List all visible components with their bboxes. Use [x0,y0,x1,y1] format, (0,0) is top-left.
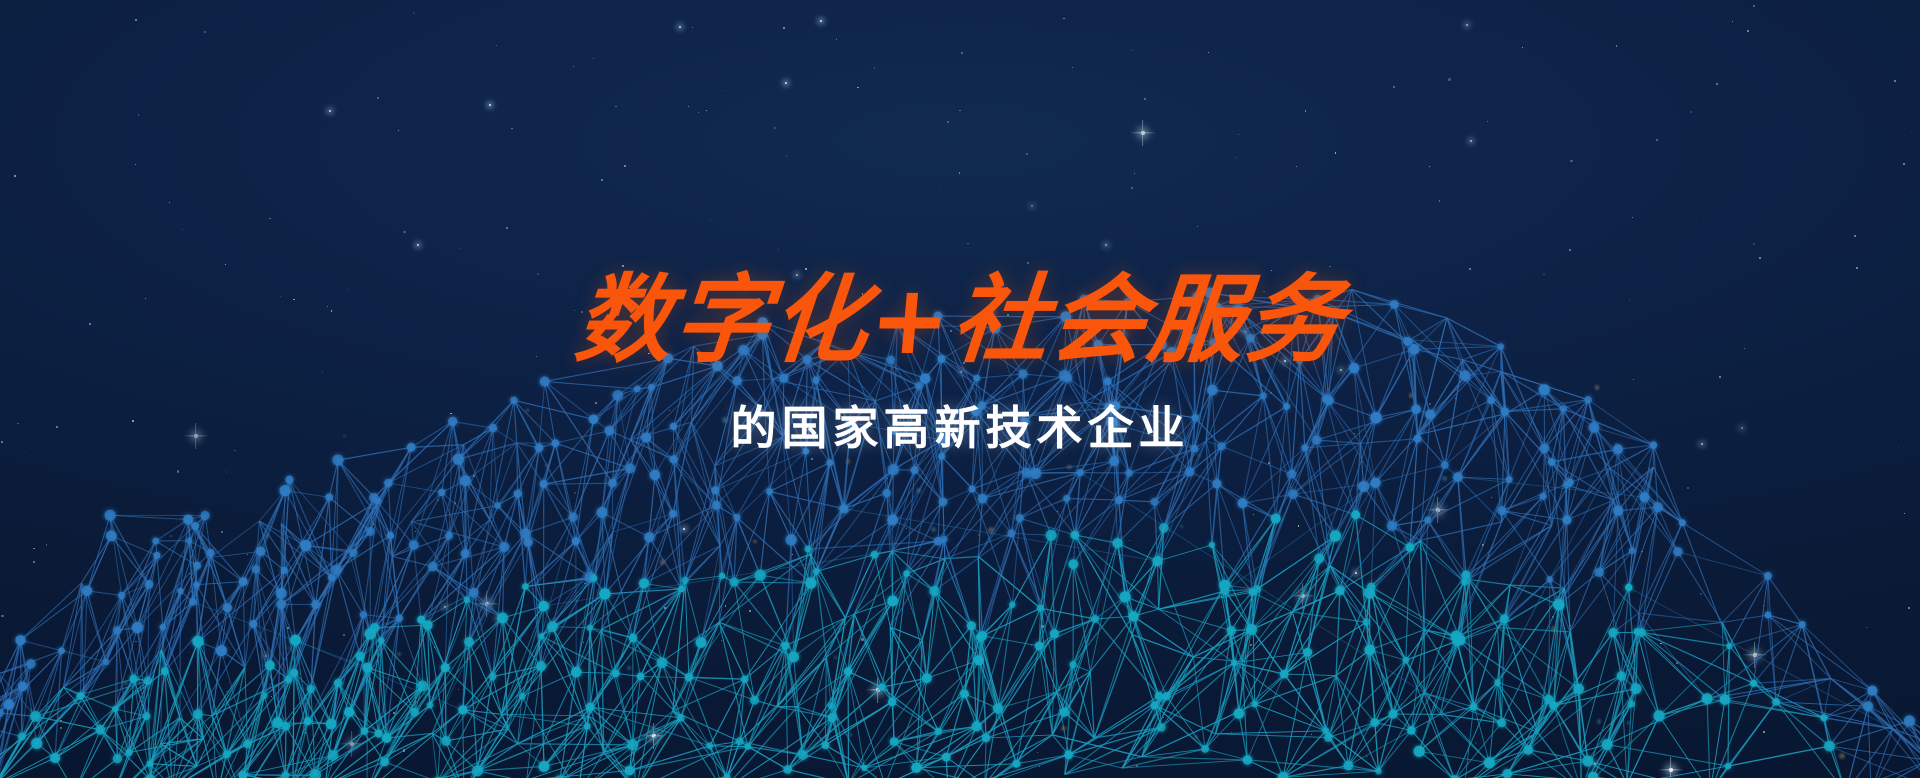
mesh-node [365,628,376,639]
mesh-node [644,532,654,542]
star-particle [1547,666,1549,668]
star-particle [21,685,23,687]
star-particle [692,27,693,28]
mesh-node [911,763,921,773]
mesh-node [1070,661,1077,668]
star-particle [1753,5,1755,7]
mesh-node [976,633,984,641]
star-particle [1134,173,1135,174]
dust-particle [1541,686,1544,689]
mesh-node [828,703,835,710]
star-particle [1759,257,1761,259]
star-particle [33,561,35,563]
glow-star-particle [489,104,491,106]
mesh-node [18,682,28,692]
mesh-node [1562,516,1571,525]
mesh-node [890,737,899,746]
star-particle [506,227,507,228]
mesh-node [520,528,530,538]
mesh-node [1548,458,1556,466]
star-particle [415,531,416,532]
star-particle [271,696,272,697]
mesh-node [223,750,231,758]
star-particle [573,66,574,67]
mesh-node [375,729,383,737]
mesh-node [839,505,846,512]
mesh-node [871,551,879,559]
mesh-node [177,588,183,594]
mesh-node [193,562,201,570]
dust-particle [1551,626,1556,631]
mesh-node [1287,470,1296,479]
mesh-node [1016,514,1024,522]
sparkle-star [339,731,365,757]
mesh-node [1120,591,1131,602]
star-particle [1482,544,1484,546]
mesh-node [1125,469,1133,477]
star-particle [1305,110,1307,112]
mesh-node [1617,671,1626,680]
mesh-node [1625,584,1632,591]
mesh-node [1720,694,1731,705]
star-particle [857,87,858,88]
dust-particle [660,559,666,565]
mesh-node [685,673,693,681]
mesh-node [1451,631,1462,642]
glow-star-particle [329,110,331,112]
dust-particle [931,527,937,533]
mesh-node [132,622,143,633]
mesh-node [441,736,451,746]
mesh-node [1009,602,1015,608]
mesh-node [152,538,159,545]
star-particle [455,502,457,504]
star-particle [313,742,314,743]
star-particle [593,58,594,59]
star-particle [398,130,399,131]
star-particle [1197,226,1198,227]
star-particle [1238,134,1239,135]
glow-star-particle [497,618,499,620]
star-particle [226,471,228,473]
mesh-node [903,570,910,577]
mesh-node [410,708,419,717]
mesh-node [18,733,26,741]
star-particle [46,544,47,545]
mesh-node [58,647,65,654]
mesh-node [417,616,425,624]
mesh-node [922,673,932,683]
star-particle [1475,742,1477,744]
mesh-node [378,637,385,644]
mesh-node [1064,750,1073,759]
mesh-node [755,570,766,581]
star-particle [1041,625,1043,627]
star-particle [473,475,475,477]
star-particle [1131,187,1133,189]
star-particle [1063,18,1065,20]
mesh-node [1060,708,1069,717]
star-particle [1904,513,1905,514]
dust-particle [1180,525,1183,528]
mesh-node [974,655,984,665]
mesh-node [599,588,610,599]
star-particle [169,202,170,203]
mesh-node [1904,715,1915,726]
star-particle [1026,153,1028,155]
star-particle [1487,121,1488,122]
banner-headline: 数字化+社会服务 [0,272,1920,370]
mesh-node [380,758,389,767]
mesh-node [261,693,267,699]
mesh-node [497,613,508,624]
star-particle [1268,462,1270,464]
mesh-node [1629,547,1636,554]
mesh-node [1484,757,1495,768]
mesh-node [696,637,707,648]
star-particle [961,52,963,54]
mesh-node [1151,498,1159,506]
mesh-node [145,580,154,589]
mesh-node [1249,588,1257,596]
mesh-node [1640,492,1650,502]
star-particle [496,45,497,46]
star-particle [287,627,289,629]
mesh-node [249,620,257,628]
mesh-node [325,493,333,501]
mesh-node [1497,718,1506,727]
glow-star-particle [265,655,267,657]
mesh-node [1367,583,1375,591]
mesh-node [935,728,942,735]
mesh-node [1566,479,1573,486]
mesh-node [625,463,635,473]
star-particle [1903,163,1905,165]
mesh-node [1007,530,1015,538]
mesh-node [1243,755,1253,765]
mesh-node [118,592,126,600]
star-particle [247,554,248,555]
star-particle [1109,596,1110,597]
star-particle [625,768,626,769]
star-particle [947,121,949,123]
star-particle [1439,200,1441,202]
mesh-node [1523,745,1533,755]
mesh-node [826,459,833,466]
star-particle [1136,765,1138,767]
mesh-node [514,490,522,498]
mesh-node [1863,701,1873,711]
mesh-node [328,574,335,581]
mesh-node [1544,695,1553,704]
star-particle [1010,518,1012,520]
mesh-node [252,565,260,573]
mesh-node [361,727,368,734]
mesh-node [1462,571,1471,580]
mesh-node [861,765,867,771]
star-particle [786,155,788,157]
mesh-node [1673,547,1682,556]
mesh-node [1280,670,1289,679]
mesh-node [1363,618,1371,626]
mesh-node [1547,576,1553,582]
star-particle [749,610,751,612]
mesh-node [438,489,445,496]
mesh-node [637,673,645,681]
mesh-node [458,705,467,714]
mesh-node [1037,605,1044,612]
star-particle [811,458,813,460]
mesh-node [1370,718,1379,727]
mesh-node [729,577,738,586]
mesh-node [1702,693,1713,704]
mesh-node [129,675,137,683]
mesh-node [192,636,203,647]
star-particle [459,248,460,249]
star-particle [1296,166,1297,167]
glow-star-particle [417,244,419,246]
star-particle [1311,734,1312,735]
mesh-node [798,750,808,760]
mesh-node [1506,476,1513,483]
mesh-node [1563,481,1570,488]
star-particle [1570,160,1572,162]
mesh-node [1212,479,1221,488]
star-particle [688,106,689,107]
mesh-node [1867,686,1877,696]
mesh-node [978,494,988,504]
mesh-node [719,573,725,579]
mesh-node [311,600,320,609]
mesh-node [1824,741,1835,752]
star-particle [393,712,395,714]
mesh-node [584,723,591,730]
star-particle [1129,540,1130,541]
mesh-node [888,698,896,706]
dust-particle [788,656,790,658]
star-particle [698,112,699,113]
star-particle [725,605,727,607]
mesh-node [1324,733,1333,742]
mesh-node [1370,478,1380,488]
mesh-node [1613,506,1623,516]
mesh-node [125,749,132,756]
star-particle [135,164,136,165]
mesh-node [193,709,203,719]
mesh-node [1588,772,1598,778]
star-particle [574,492,576,494]
star-particle [60,727,62,729]
star-particle [887,478,888,479]
star-particle [1676,662,1678,664]
star-particle [343,634,345,636]
mesh-node [993,703,1003,713]
star-particle [1469,268,1471,270]
mesh-node [494,502,501,509]
mesh-node [1035,642,1044,651]
star-particle [204,31,206,33]
dust-particle [1169,693,1172,696]
mesh-node [745,743,752,750]
mesh-node [1453,472,1463,482]
star-particle [1747,30,1749,32]
mesh-node [1500,614,1509,623]
star-particle [14,175,16,177]
mesh-node [1303,648,1312,657]
star-particle [792,554,793,555]
mesh-node [629,634,638,643]
star-particle [1632,217,1633,218]
mesh-node [736,737,744,745]
mesh-node [1253,585,1261,593]
mesh-node [547,621,558,632]
mesh-node [706,742,713,749]
glow-star-particle [444,606,446,608]
dust-particle [753,540,757,544]
mesh-node [239,577,248,586]
mesh-node [310,769,321,778]
mesh-node [1022,468,1032,478]
mesh-node [207,549,215,557]
mesh-node [499,542,509,552]
mesh-node [147,761,153,767]
star-particle [906,528,907,529]
star-particle [1763,731,1765,733]
star-particle [783,27,785,29]
mesh-node [396,615,403,622]
mesh-node [804,546,811,553]
mesh-node [363,663,373,673]
mesh-node [788,651,799,662]
star-particle [304,732,306,734]
star-particle [1648,468,1650,470]
star-particle [138,114,140,116]
mesh-node [608,479,617,488]
mesh-node [878,684,885,691]
mesh-node [657,657,668,668]
mesh-node [276,588,287,599]
star-particle [1854,235,1856,237]
star-particle [403,231,405,233]
mesh-node [883,489,891,497]
mesh-node [281,771,289,778]
dust-particle [545,464,548,467]
mesh-node [723,774,730,778]
dust-particle [988,527,994,533]
mesh-node [1725,763,1731,769]
mesh-node [536,661,546,671]
star-particle [379,498,381,500]
mesh-node [1314,553,1324,563]
mesh-node [193,581,199,587]
star-particle [1429,166,1430,167]
mesh-node [627,739,638,750]
mesh-node [540,480,548,488]
banner-subheadline: 的国家高新技术企业 [0,392,1920,458]
mesh-node [1351,510,1360,519]
mesh-node [366,527,375,536]
star-particle [1019,468,1020,469]
mesh-node [888,464,899,475]
glow-star-particle [1470,140,1472,142]
mesh-node [942,753,951,762]
mesh-node [1221,587,1230,596]
mesh-node [678,586,685,593]
mesh-node [677,714,685,722]
star-particle [1125,496,1126,497]
mesh-node [369,493,379,503]
mesh-node [1679,519,1686,526]
mesh-node [1234,708,1244,718]
mesh-node [597,507,608,518]
glow-star-particle [785,82,787,84]
mesh-node [1252,701,1259,708]
mesh-node [1071,531,1080,540]
star-particle [1253,514,1254,515]
star-particle [1552,616,1554,618]
mesh-node [1406,543,1415,552]
star-particle [221,531,223,533]
dust-particle [846,459,851,464]
dust-particle [1442,476,1447,481]
mesh-node [1497,506,1506,515]
mesh-node [969,486,976,493]
dust-particle [627,666,631,670]
mesh-node [285,476,293,484]
mesh-node [1441,461,1449,469]
star-particle [1039,766,1040,767]
mesh-node [572,537,580,545]
star-particle [434,647,435,648]
mesh-node [276,599,286,609]
mesh-node [750,696,759,705]
mesh-node [1461,579,1468,586]
mesh-node [568,512,577,521]
star-particle [170,535,172,537]
star-particle [1235,157,1236,158]
mesh-node [216,645,227,656]
mesh-node [1201,745,1209,753]
mesh-node [805,577,816,588]
mesh-node [1634,628,1641,635]
star-particle [1132,50,1133,51]
mesh-node [1387,521,1397,531]
mesh-node [712,501,721,510]
star-particle [1263,565,1265,567]
mesh-node [972,721,982,731]
sparkle-star [641,723,667,749]
star-particle [1763,605,1764,606]
mesh-node [1278,772,1289,778]
star-particle [642,210,643,211]
mesh-node [828,713,837,722]
star-particle [978,534,979,535]
mesh-node [331,565,342,576]
mesh-node [1407,726,1415,734]
star-particle [1072,67,1074,69]
mesh-node [161,667,169,675]
star-particle [583,642,584,643]
mesh-node [1152,556,1162,566]
dust-particle [916,488,921,493]
mesh-node [1288,489,1298,499]
glow-star-particle [683,528,685,530]
mesh-node [265,660,275,670]
mesh-node [326,719,337,730]
glow-star-particle [1594,763,1596,765]
star-particle [1448,78,1450,80]
mesh-node [1772,698,1780,706]
